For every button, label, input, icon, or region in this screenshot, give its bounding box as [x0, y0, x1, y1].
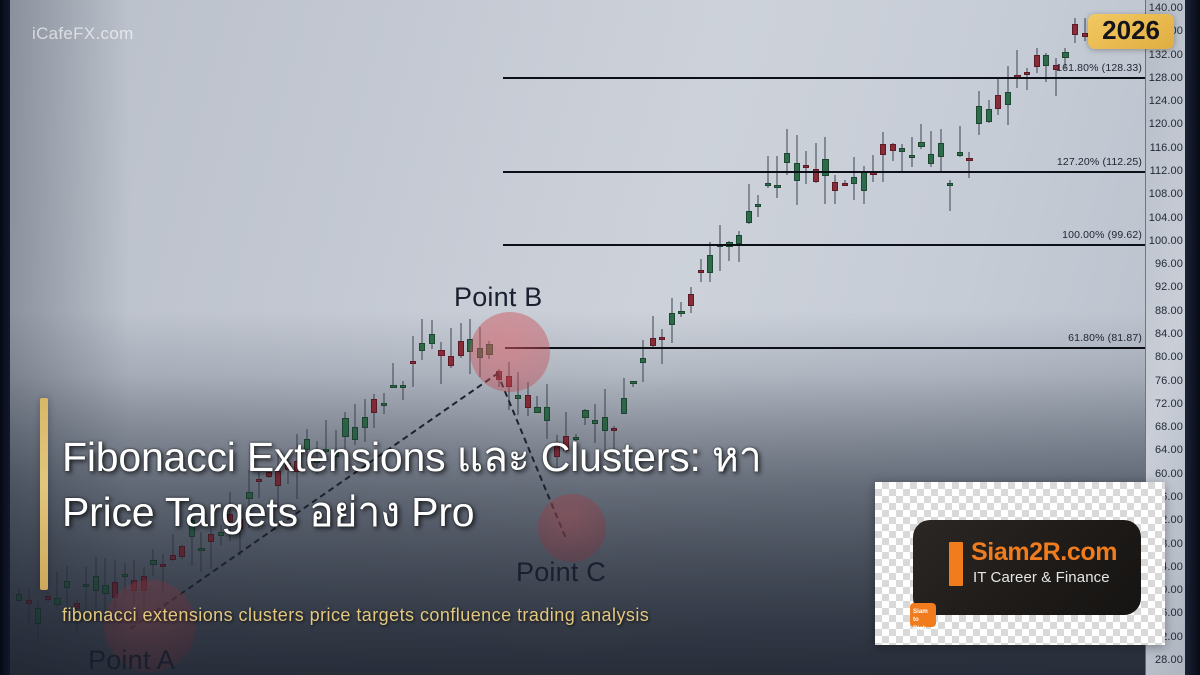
source-watermark: iCafeFX.com — [32, 24, 134, 44]
candle-body — [102, 585, 108, 593]
price-axis-tick: 84.00 — [1155, 328, 1183, 340]
candle-body — [832, 182, 838, 191]
candlestick — [832, 0, 838, 675]
candle-body — [371, 399, 377, 413]
candle-body — [678, 311, 684, 314]
candlestick — [794, 0, 800, 675]
fib-level-label: 61.80% (81.87) — [1068, 332, 1142, 344]
candle-body — [400, 385, 406, 388]
candle-body — [93, 576, 99, 592]
candlestick — [179, 0, 185, 675]
logo-card: Siam2R.com IT Career & Finance Siam to R… — [913, 520, 1141, 615]
candle-body — [1043, 55, 1049, 66]
logo-chip-line-1: Siam — [913, 608, 928, 615]
candlestick — [64, 0, 70, 675]
candle-body — [842, 183, 848, 186]
price-axis-tick: 116.00 — [1150, 142, 1183, 154]
candle-body — [986, 109, 992, 123]
candlestick — [160, 0, 166, 675]
candle-body — [381, 403, 387, 406]
candle-wick — [777, 156, 778, 198]
candlestick — [150, 0, 156, 675]
candle-body — [525, 395, 531, 408]
price-axis-tick: 128.00 — [1149, 72, 1183, 84]
candle-body — [122, 574, 128, 577]
candlestick — [16, 0, 22, 675]
candle-body — [26, 600, 32, 604]
candlestick — [448, 0, 454, 675]
candlestick — [746, 0, 752, 675]
candle-body — [429, 334, 435, 344]
right-frame-border — [1185, 0, 1200, 675]
candle-body — [880, 144, 886, 155]
candle-body — [995, 95, 1001, 109]
candle-body — [851, 177, 857, 184]
left-frame-border — [0, 0, 10, 675]
candle-body — [976, 106, 982, 125]
brand-logo-panel: Siam2R.com IT Career & Finance Siam to R… — [875, 482, 1165, 645]
candle-body — [362, 417, 368, 428]
logo-brand-name: Siam2R.com — [971, 538, 1117, 567]
candlestick — [323, 0, 329, 675]
price-axis-tick: 92.00 — [1155, 281, 1183, 293]
candle-wick — [1017, 50, 1018, 88]
candlestick — [141, 0, 147, 675]
candle-body — [1072, 24, 1078, 34]
candlestick — [266, 0, 272, 675]
candle-body — [592, 420, 598, 424]
logo-chip-line-2: to Rich — [913, 616, 926, 631]
candle-body — [1024, 72, 1030, 75]
fib-level-line — [505, 347, 1145, 349]
price-axis-tick: 64.00 — [1155, 444, 1183, 456]
candle-body — [602, 417, 608, 431]
fib-level-line — [503, 171, 1145, 173]
candle-body — [1062, 52, 1068, 59]
candle-body — [650, 338, 656, 346]
title-accent-bar — [40, 398, 48, 590]
candlestick — [611, 0, 617, 675]
price-axis-tick: 124.00 — [1149, 95, 1183, 107]
price-axis-tick: 112.00 — [1150, 165, 1183, 177]
candle-body — [899, 148, 905, 152]
candle-body — [938, 143, 944, 157]
price-axis-tick: 132.00 — [1149, 49, 1183, 61]
price-axis-tick: 120.00 — [1149, 118, 1183, 130]
candle-wick — [403, 381, 404, 400]
candlestick — [688, 0, 694, 675]
candle-body — [621, 398, 627, 414]
candle-body — [698, 270, 704, 273]
candle-body — [755, 204, 761, 207]
price-axis-tick: 68.00 — [1155, 421, 1183, 433]
price-axis-tick: 108.00 — [1149, 188, 1183, 200]
candle-body — [669, 313, 675, 325]
candlestick — [774, 0, 780, 675]
candle-wick — [28, 588, 29, 623]
candlestick — [362, 0, 368, 675]
fib-level-label: 100.00% (99.62) — [1062, 229, 1142, 241]
candlestick — [419, 0, 425, 675]
candlestick — [822, 0, 828, 675]
candlestick — [246, 0, 252, 675]
candle-body — [198, 548, 204, 551]
logo-tagline: IT Career & Finance — [973, 569, 1110, 586]
candlestick — [54, 0, 60, 675]
candle-body — [150, 560, 156, 565]
swing-point-label: Point A — [88, 645, 175, 675]
candlestick — [621, 0, 627, 675]
candlestick — [170, 0, 176, 675]
candlestick — [112, 0, 118, 675]
price-axis-tick: 60.00 — [1155, 468, 1183, 480]
candle-body — [1082, 33, 1088, 37]
year-badge: 2026 — [1088, 14, 1174, 49]
candle-body — [784, 153, 790, 163]
candlestick — [371, 0, 377, 675]
candlestick — [83, 0, 89, 675]
candle-body — [870, 172, 876, 175]
keyword-tagline: fibonacci extensions clusters price targ… — [62, 605, 922, 626]
candle-wick — [86, 567, 87, 611]
candlestick — [256, 0, 262, 675]
candle-body — [170, 555, 176, 560]
candle-wick — [787, 129, 788, 176]
candle-body — [765, 183, 771, 186]
candlestick — [122, 0, 128, 675]
candle-body — [774, 185, 780, 188]
candlestick — [842, 0, 848, 675]
candle-body — [83, 584, 89, 588]
candle-wick — [883, 132, 884, 182]
candle-body — [438, 350, 444, 356]
price-axis-tick: 76.00 — [1155, 375, 1183, 387]
candle-body — [45, 596, 51, 600]
candle-body — [746, 211, 752, 223]
candle-body — [448, 356, 454, 366]
candle-body — [64, 581, 70, 587]
candlestick — [755, 0, 761, 675]
candlestick — [74, 0, 80, 675]
candlestick — [438, 0, 444, 675]
candle-body — [966, 158, 972, 161]
candle-body — [957, 152, 963, 157]
candlestick — [218, 0, 224, 675]
candle-body — [35, 608, 41, 624]
candle-body — [515, 395, 521, 398]
candle-body — [909, 155, 915, 158]
candle-body — [688, 294, 694, 306]
candlestick — [669, 0, 675, 675]
candlestick — [650, 0, 656, 675]
fib-level-line — [503, 244, 1145, 246]
candlestick — [717, 0, 723, 675]
candlestick — [342, 0, 348, 675]
candlestick — [429, 0, 435, 675]
candlestick — [765, 0, 771, 675]
candlestick — [698, 0, 704, 675]
price-axis-tick: 28.00 — [1155, 654, 1183, 666]
candle-body — [707, 255, 713, 274]
swing-point-marker — [470, 312, 550, 392]
candlestick — [851, 0, 857, 675]
candlestick — [390, 0, 396, 675]
fib-level-line — [503, 77, 1145, 79]
candlestick — [189, 0, 195, 675]
fib-level-label: 127.20% (112.25) — [1057, 156, 1142, 168]
candlestick — [304, 0, 310, 675]
swing-point-label: Point B — [454, 282, 542, 313]
candle-wick — [969, 152, 970, 178]
price-axis-tick: 72.00 — [1155, 398, 1183, 410]
candlestick — [410, 0, 416, 675]
candle-wick — [681, 302, 682, 317]
candlestick — [736, 0, 742, 675]
candlestick — [458, 0, 464, 675]
candlestick — [294, 0, 300, 675]
candle-body — [861, 172, 867, 190]
candlestick — [237, 0, 243, 675]
candlestick — [198, 0, 204, 675]
candle-body — [419, 343, 425, 350]
candle-body — [890, 144, 896, 151]
candlestick — [102, 0, 108, 675]
candlestick — [275, 0, 281, 675]
candle-body — [582, 410, 588, 418]
candle-wick — [873, 155, 874, 182]
candlestick — [640, 0, 646, 675]
candle-body — [1005, 92, 1011, 105]
candlestick — [400, 0, 406, 675]
candle-body — [160, 564, 166, 567]
candle-body — [918, 142, 924, 147]
candlestick — [352, 0, 358, 675]
candle-body — [534, 407, 540, 413]
candlestick — [333, 0, 339, 675]
candle-body — [630, 381, 636, 384]
candlestick — [227, 0, 233, 675]
candlestick — [813, 0, 819, 675]
candlestick — [381, 0, 387, 675]
price-axis-tick: 96.00 — [1155, 258, 1183, 270]
candle-body — [947, 183, 953, 186]
candlestick — [803, 0, 809, 675]
candle-body — [1034, 55, 1040, 68]
article-cover-image: 161.80% (128.33)127.20% (112.25)100.00% … — [0, 0, 1200, 675]
candle-body — [736, 235, 742, 244]
candle-wick — [911, 137, 912, 167]
logo-corner-chip: Siam to Rich — [910, 603, 936, 627]
candle-body — [803, 165, 809, 168]
candlestick — [26, 0, 32, 675]
price-axis-tick: 80.00 — [1155, 351, 1183, 363]
candle-body — [390, 385, 396, 388]
candlestick — [630, 0, 636, 675]
candlestick — [707, 0, 713, 675]
candlestick — [285, 0, 291, 675]
candlestick — [726, 0, 732, 675]
candle-wick — [441, 342, 442, 384]
candlestick — [784, 0, 790, 675]
candle-wick — [719, 225, 720, 271]
price-axis-tick: 100.00 — [1149, 235, 1183, 247]
candle-body — [822, 159, 828, 175]
candle-body — [544, 407, 550, 421]
candlestick — [93, 0, 99, 675]
candle-body — [640, 358, 646, 363]
candle-body — [928, 154, 934, 164]
candle-body — [54, 598, 60, 605]
swing-point-label: Point C — [516, 557, 606, 588]
candlestick — [314, 0, 320, 675]
candlestick — [861, 0, 867, 675]
logo-accent-bar-icon — [949, 542, 963, 586]
candle-body — [458, 341, 464, 356]
candlestick — [678, 0, 684, 675]
price-axis-tick: 104.00 — [1149, 212, 1183, 224]
candle-body — [16, 594, 22, 602]
candle-wick — [662, 329, 663, 364]
page-title: Fibonacci Extensions และ Clusters: หา Pr… — [62, 430, 822, 539]
fib-level-label: 161.80% (128.33) — [1056, 62, 1142, 74]
price-axis-tick: 140.00 — [1149, 2, 1183, 14]
candlestick — [659, 0, 665, 675]
candle-wick — [422, 319, 423, 360]
candle-body — [659, 337, 665, 340]
candle-wick — [1084, 18, 1085, 41]
candle-body — [179, 546, 185, 556]
price-axis-tick: 88.00 — [1155, 305, 1183, 317]
candlestick — [131, 0, 137, 675]
candle-body — [410, 361, 416, 365]
